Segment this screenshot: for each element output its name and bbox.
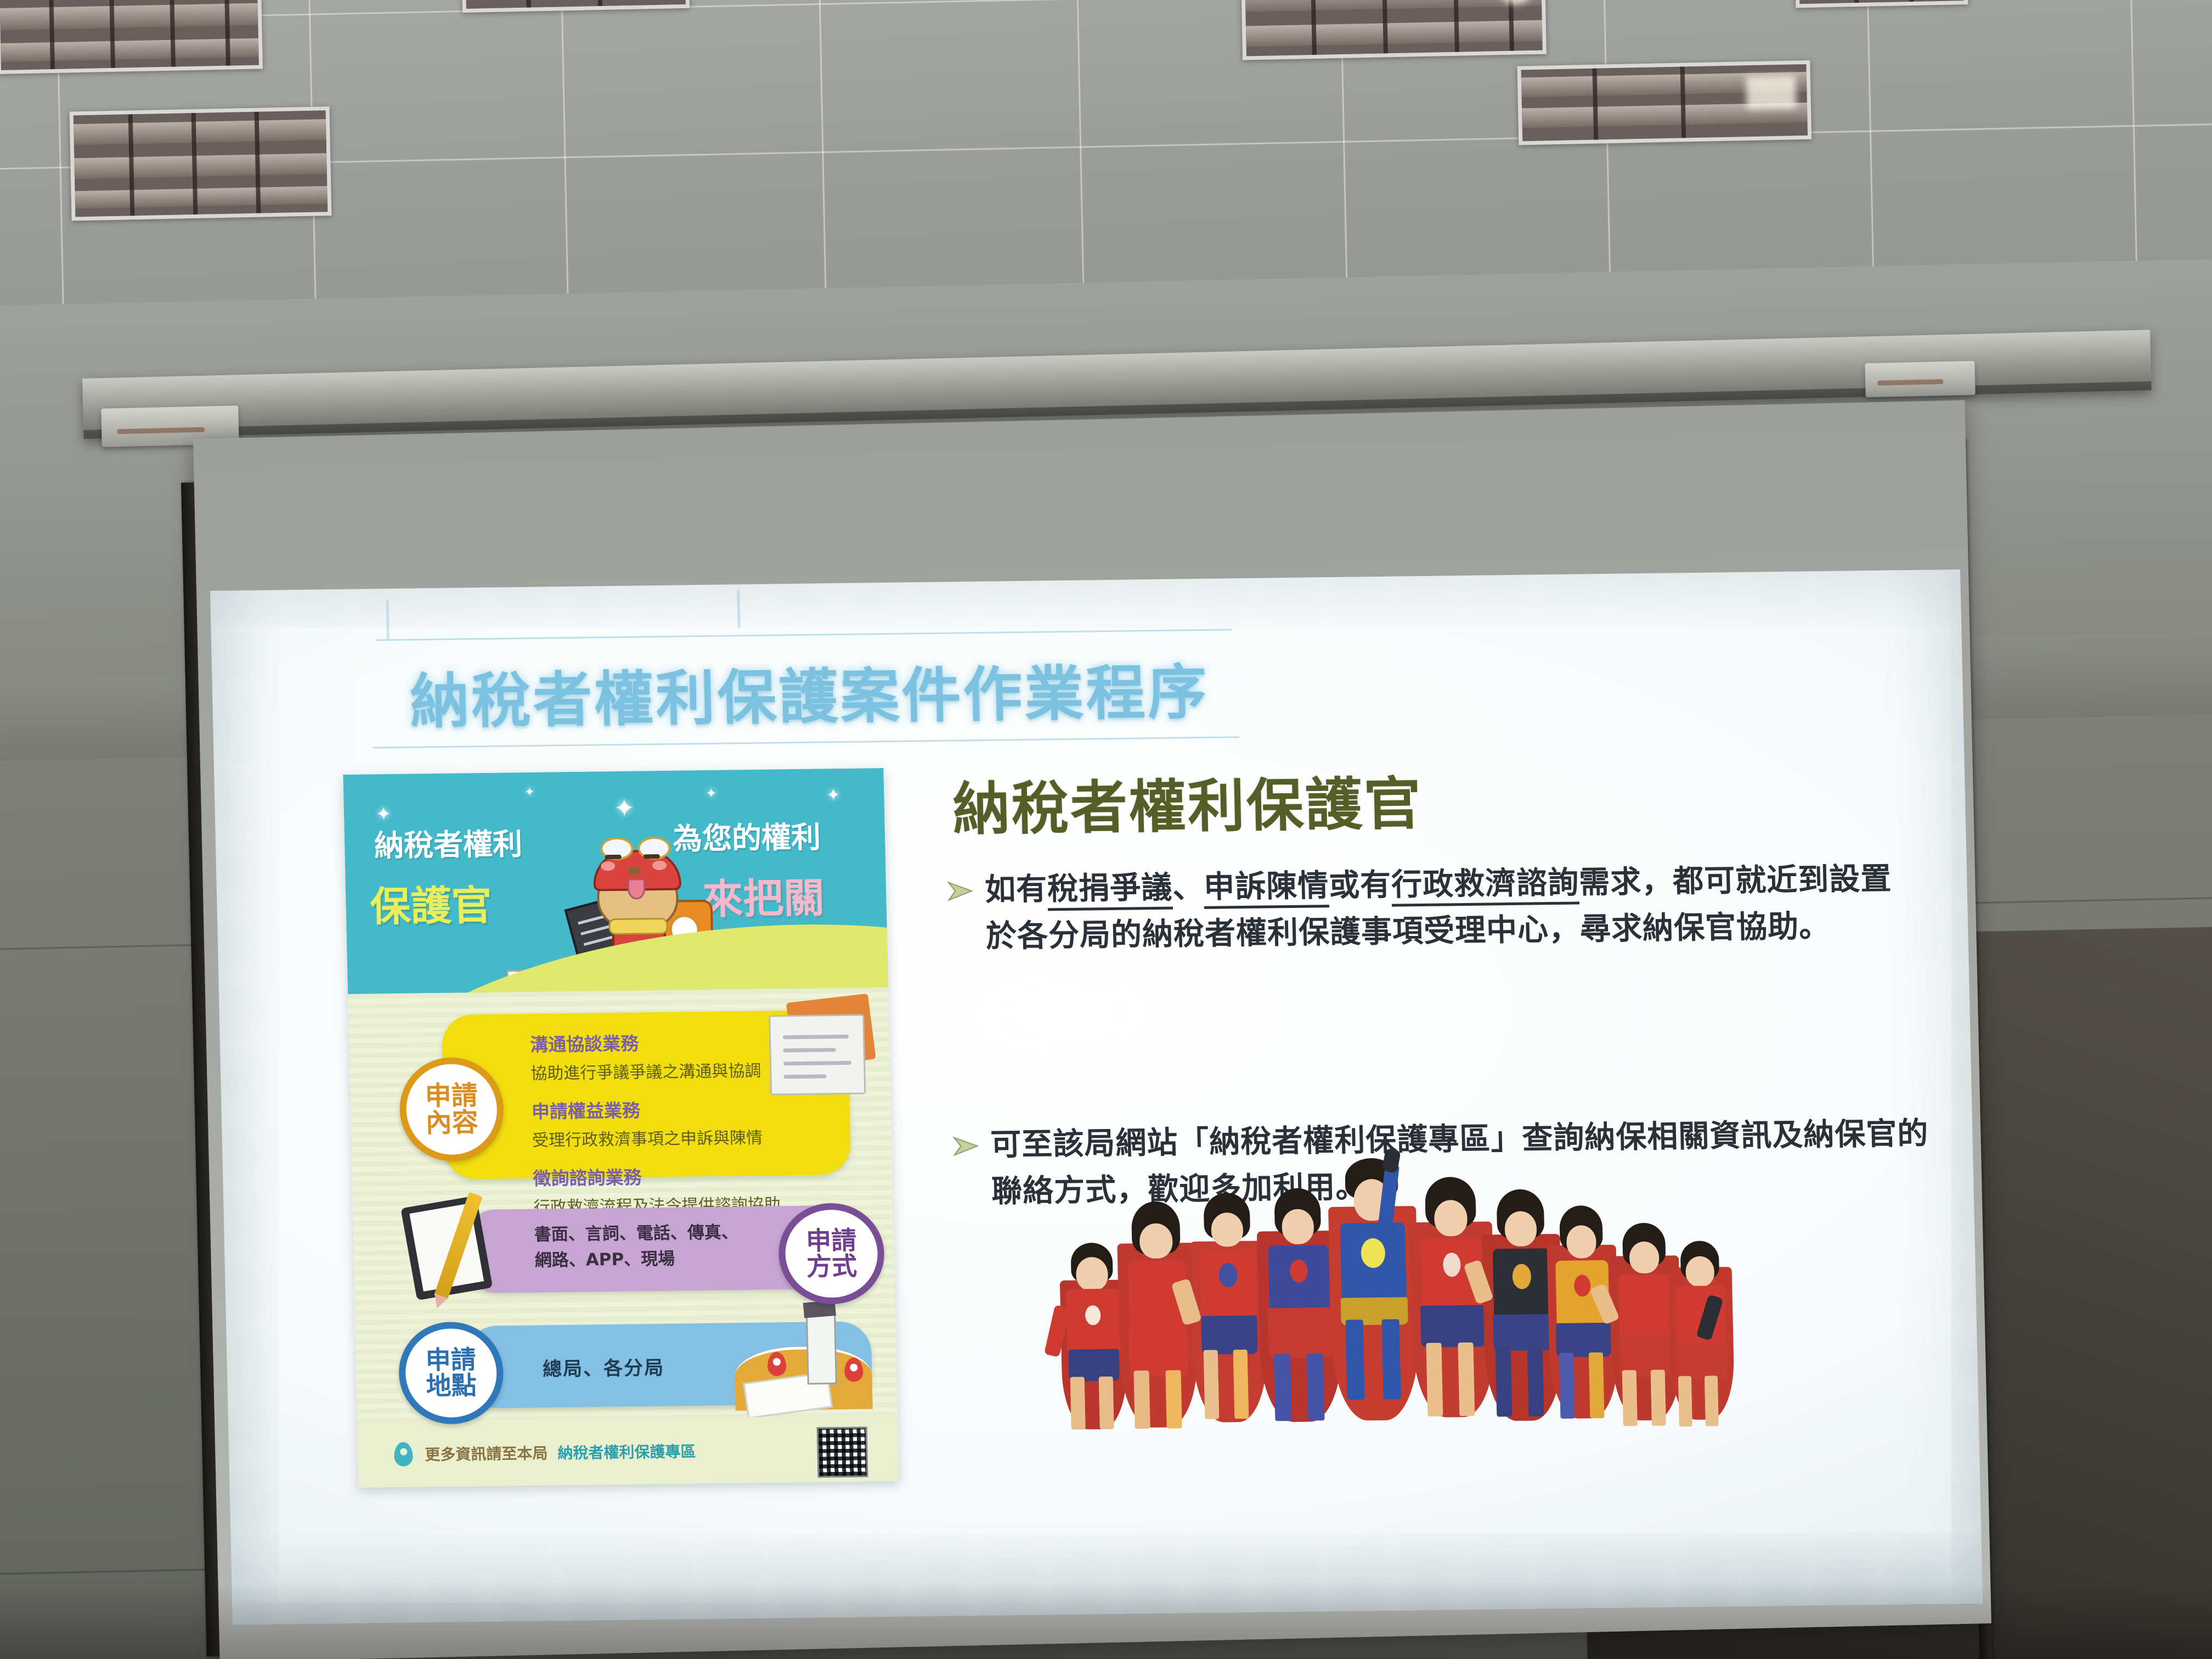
ceiling-light-fixture [1240,0,1547,60]
arrow-bullet-icon [946,867,979,961]
hero-figure [1661,1224,1742,1429]
arrow-bullet-icon [951,1122,984,1216]
slide-heading: 納稅者權利保護官 [952,757,1423,845]
apply-method-badge-line1: 申請 [806,1228,857,1254]
tax-protection-poster: ✦ ✦ ✦ ✦ ✦ 納稅者權利 保護官 為您的權利 來把關 [343,768,899,1488]
title-decoration-right [737,590,741,628]
apply-location-text: 總局、各分局 [542,1352,664,1382]
apply-content-item1-sub: 協助進行爭議爭議之溝通與協調 [531,1056,827,1084]
slide-title: 納稅者權利保護案件作業程序 [409,644,1223,740]
apply-location-badge-line1: 申請 [425,1347,476,1373]
bullet-1-text: 如有稅捐爭議、申訴陳情或有行政救濟諮詢需求，都可就近到設置於各分局的納稅者權利保… [984,855,1914,960]
b1-s4: 或有 [1329,867,1392,904]
b1-s1: 稅捐爭議 [1047,870,1173,911]
apply-content-items: 溝通協談業務 協助進行爭議爭議之溝通與協調 申請權益業務 受理行政救濟事項之申訴… [530,1026,831,1231]
qr-code-icon [817,1426,868,1477]
poster-header-line1-left: 納稅者權利 [374,820,523,865]
title-decoration-left [386,600,390,640]
apply-content-item3-head: 徵詢諮詢業務 [533,1160,830,1190]
apply-content-item1-head: 溝通協談業務 [530,1026,827,1057]
location-pin-icon [394,1442,413,1466]
ceiling-light-fixture [460,0,690,13]
screen-mount-bracket-right [1865,361,1975,398]
city-map-icon [733,1310,873,1410]
conference-room-scene: 納稅者權利保護案件作業程序 ✦ ✦ ✦ ✦ ✦ 納稅者權利 保護官 為您的權利 … [0,0,2212,1659]
apply-content-badge-line2: 內容 [425,1109,478,1137]
title-rule-top [376,629,1232,641]
apply-method-line2: 網路、APP、現場 [534,1245,739,1273]
apply-content-item2-sub: 受理行政救濟事項之申訴與陳情 [532,1123,828,1151]
apply-method-badge-line2: 方式 [806,1254,857,1280]
poster-footer: 更多資訊請至本局 納稅者權利保護專區 [357,1415,899,1488]
poster-header-line2-left: 保護官 [369,873,492,933]
poster-body: 申請 內容 溝通協談業務 協助進行爭議爭議之溝通與協調 申請權益業務 受理行政救… [348,988,899,1488]
projected-slide: 納稅者權利保護案件作業程序 ✦ ✦ ✦ ✦ ✦ 納稅者權利 保護官 為您的權利 … [210,569,1983,1625]
apply-content-badge-line1: 申請 [425,1082,478,1110]
bullet-item-1: 如有稅捐爭議、申訴陳情或有行政救濟諮詢需求，都可就近到設置於各分局的納稅者權利保… [946,855,1914,961]
apply-method-line1: 書面、言詞、電話、傳真、 [534,1220,738,1248]
b1-s2: 、 [1172,870,1204,906]
poster-footer-text-b: 納稅者權利保護專區 [557,1440,696,1463]
poster-header: ✦ ✦ ✦ ✦ ✦ 納稅者權利 保護官 為您的權利 來把關 [343,768,888,1005]
bottom-shadow [0,1582,2212,1659]
ceiling-light-fixture [70,106,332,221]
ceiling-light-fixture [0,0,263,74]
apply-method-badge: 申請 方式 [778,1203,885,1305]
apply-method-text: 書面、言詞、電話、傳真、 網路、APP、現場 [534,1220,739,1273]
clipboard-pencil-icon [407,1196,513,1299]
b1-s3: 申訴陳情 [1204,868,1330,909]
b1-s0: 如有 [985,871,1048,907]
apply-content-item2-head: 申請權益業務 [531,1093,828,1124]
ceiling-light-fixture [1794,0,1968,8]
superhero-group-illustration [1045,1133,1633,1436]
apply-location-badge-line2: 地點 [426,1373,477,1399]
poster-header-line2-right: 來把關 [702,865,825,926]
poster-footer-text-a: 更多資訊請至本局 [425,1442,548,1465]
cat-mascot-icon [571,830,701,996]
b1-s5: 行政救濟諮詢 [1391,865,1580,907]
ceiling-light-fixture [1517,60,1812,145]
